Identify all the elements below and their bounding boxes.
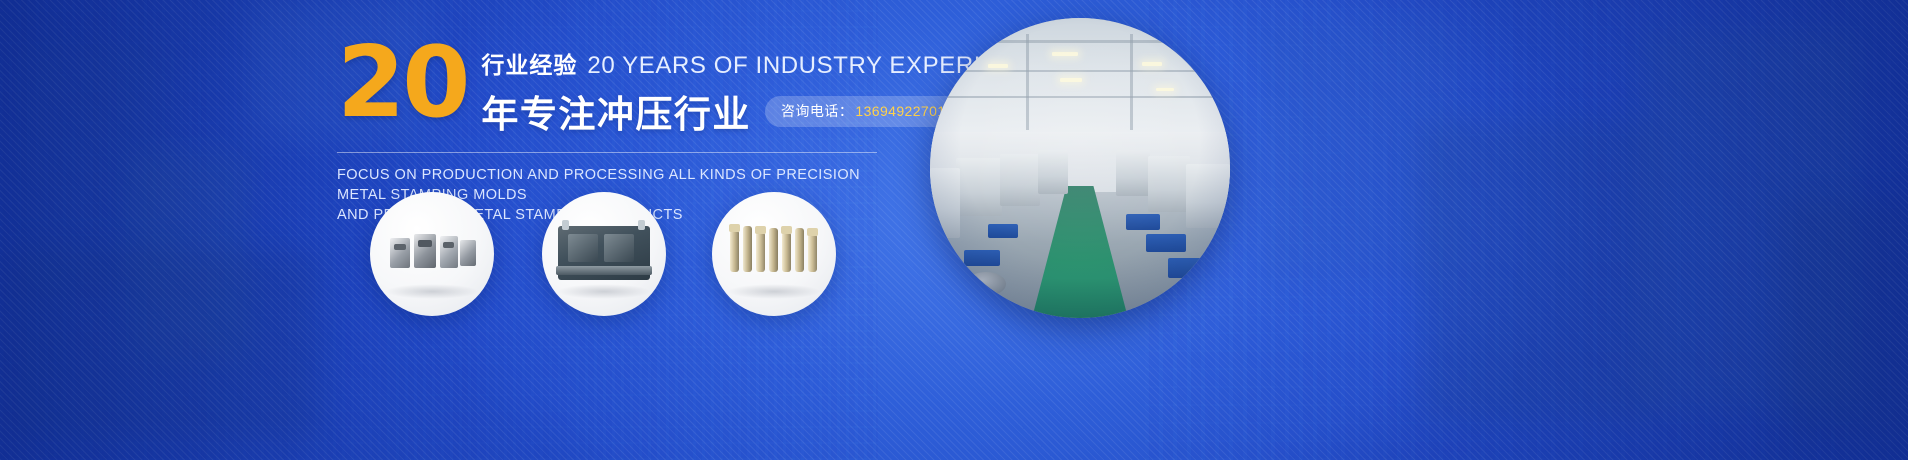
promotional-banner: 20 行业经验 20 YEARS OF INDUSTRY EXPERIENCE …: [0, 0, 1908, 460]
terminal-pin-head: [807, 228, 818, 236]
terminal-pin-head: [781, 226, 792, 234]
stamped-part-detail: [443, 242, 454, 248]
headline-cn-small: 行业经验: [481, 46, 577, 80]
phone-label: 咨询电话：: [781, 101, 854, 121]
terminal-pin-head: [729, 224, 740, 232]
stamped-part: [460, 240, 476, 266]
product-shadow: [385, 284, 479, 299]
terminal-pin: [795, 228, 804, 272]
terminal-pin: [730, 230, 739, 272]
mold-pin: [638, 220, 645, 230]
mold-pin: [562, 220, 569, 230]
product-circle-terminal-pins: [712, 192, 836, 316]
stamped-part-detail: [418, 240, 432, 247]
mold-cavity: [568, 234, 598, 262]
product-shadow: [727, 284, 821, 299]
headline-cn-big: 年专注冲压行业: [481, 84, 751, 138]
stamped-part: [390, 238, 410, 268]
product-shadow: [557, 284, 651, 299]
factory-photo-shading: [930, 18, 1230, 318]
headline-row: 20 行业经验 20 YEARS OF INDUSTRY EXPERIENCE …: [337, 36, 937, 138]
terminal-pin: [743, 226, 752, 272]
mold-cavity: [604, 234, 634, 262]
terminal-pin: [756, 232, 765, 272]
terminal-pin: [782, 232, 791, 272]
terminal-pin-head: [755, 226, 766, 234]
years-number: 20: [337, 38, 467, 128]
horizontal-divider: [337, 152, 877, 153]
terminal-pin: [769, 228, 778, 272]
product-circle-connector-shells: [370, 192, 494, 316]
terminal-pin: [808, 234, 817, 272]
stamped-part-detail: [394, 244, 406, 250]
product-circle-stamping-mold: [542, 192, 666, 316]
factory-photo-circle: [930, 18, 1230, 318]
stamped-part: [440, 236, 458, 268]
mold-rail: [556, 266, 652, 275]
